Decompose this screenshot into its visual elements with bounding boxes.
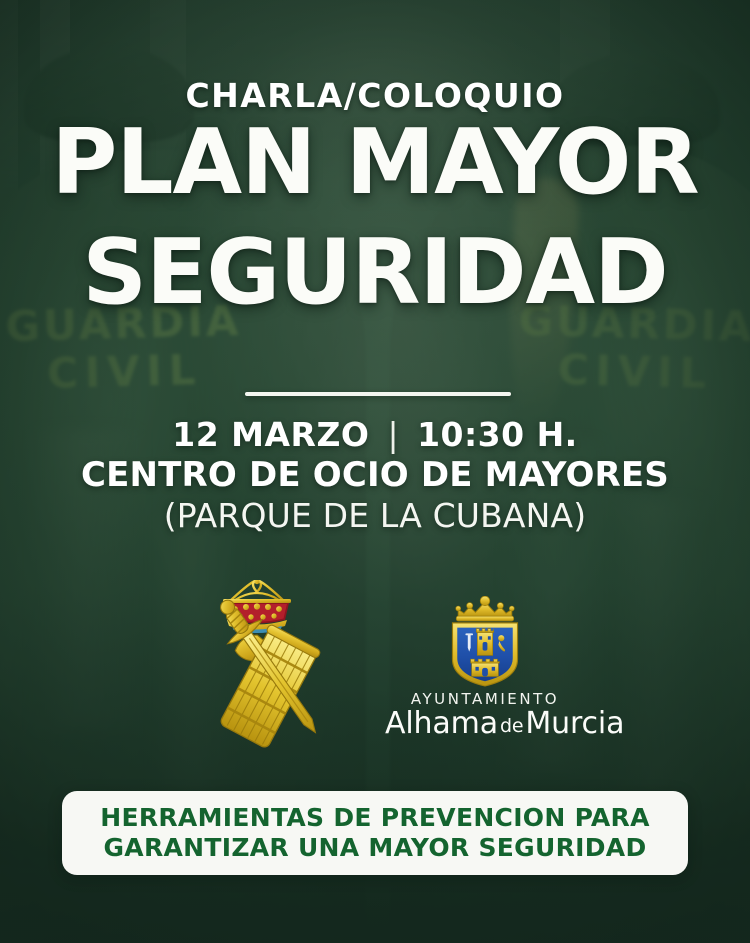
bottom-banner-line-2: GARANTIZAR UNA MAYOR SEGURIDAD — [100, 833, 650, 864]
event-date: 12 MARZO — [172, 415, 369, 454]
datetime-separator: | — [387, 415, 399, 454]
event-venue-detail: (PARQUE DE LA CUBANA) — [0, 496, 750, 535]
municipality-part-2: Murcia — [525, 706, 624, 741]
logos-row: AYUNTAMIENTO AlhamadeMurcia — [0, 578, 750, 753]
ayuntamiento-municipality: AlhamadeMurcia — [385, 708, 585, 740]
fasces-icon — [205, 615, 321, 748]
poster-title-line-1: PLAN MAYOR — [0, 118, 750, 208]
ayuntamiento-shield-wrap — [385, 596, 585, 688]
alhama-de-murcia-coat-of-arms-icon — [441, 596, 529, 688]
ayuntamiento-logo: AYUNTAMIENTO AlhamadeMurcia — [385, 596, 585, 748]
municipality-de: de — [498, 715, 525, 737]
guardia-civil-emblem-icon — [205, 580, 355, 748]
shield-crown-icon — [456, 596, 515, 621]
bottom-banner: HERRAMIENTAS DE PREVENCION PARA GARANTIZ… — [62, 791, 688, 875]
event-datetime: 12 MARZO|10:30 H. — [0, 415, 750, 454]
guardia-civil-logo — [205, 580, 355, 748]
event-venue: CENTRO DE OCIO DE MAYORES — [0, 455, 750, 495]
section-divider — [245, 392, 511, 396]
event-time: 10:30 H. — [417, 415, 578, 454]
poster-title-line-2: SEGURIDAD — [0, 228, 750, 318]
poster-canvas: GUARDIA CIVIL GUARDIA CIVIL CHARLA/COLOQ… — [0, 0, 750, 943]
shield-lower-charge — [471, 659, 500, 676]
bottom-banner-text: HERRAMIENTAS DE PREVENCION PARA GARANTIZ… — [100, 803, 650, 864]
municipality-part-1: Alhama — [385, 706, 498, 741]
bottom-banner-line-1: HERRAMIENTAS DE PREVENCION PARA — [100, 803, 650, 834]
poster-content: CHARLA/COLOQUIO PLAN MAYOR SEGURIDAD 12 … — [0, 0, 750, 943]
